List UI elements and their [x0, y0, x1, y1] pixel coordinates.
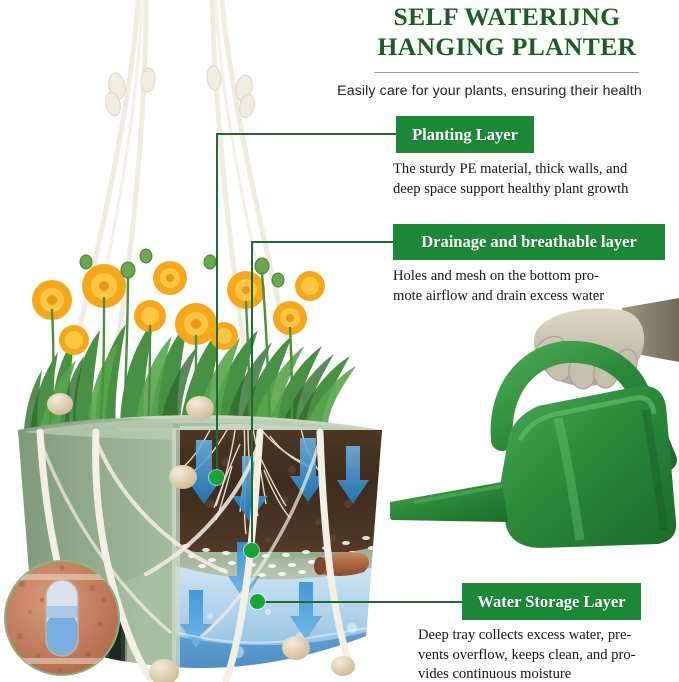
callout-badge-water-storage-layer[interactable]: Water Storage Layer [462, 583, 641, 620]
connector-drainage-vertical [251, 241, 253, 551]
page-subtitle: Easily care for your plants, ensuring th… [300, 83, 679, 99]
page-title: SELF WATERIJNG HANGING PLANTER [335, 2, 679, 62]
connector-drainage-endpoint [244, 543, 259, 558]
callout-badge-drainage-layer[interactable]: Drainage and breathable layer [393, 224, 665, 260]
connector-planting-endpoint [209, 470, 224, 485]
connector-water-horizontal [258, 601, 462, 603]
callout-badge-planting-layer[interactable]: Planting Layer [396, 116, 534, 153]
callout-description-drainage-layer: Holes and mesh on the bottom pro- mote a… [393, 267, 679, 306]
callout-description-water-storage-layer: Deep tray collects excess water, pre- ve… [418, 626, 679, 682]
connector-water-endpoint [250, 594, 265, 609]
callout-description-planting-layer: The sturdy PE material, thick walls, and… [393, 160, 679, 199]
connector-planting-vertical [216, 133, 218, 478]
connector-planting-horizontal [216, 133, 396, 135]
title-divider [374, 72, 639, 73]
connector-drainage-horizontal [251, 241, 393, 243]
gloved-hand-with-watering-can [390, 290, 679, 560]
infographic-canvas: SELF WATERIJNG HANGING PLANTER Easily ca… [0, 0, 679, 682]
planter-illustration [0, 0, 400, 682]
